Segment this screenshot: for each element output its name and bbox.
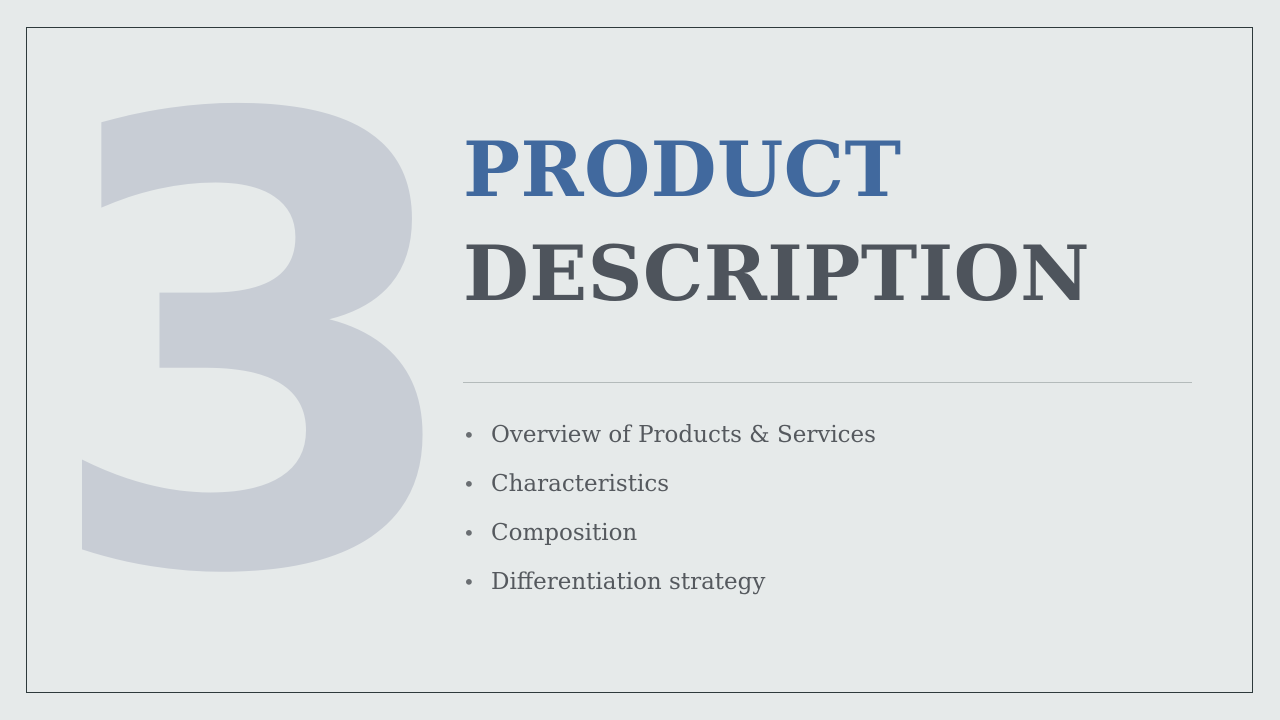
- list-item-label: Differentiation strategy: [491, 569, 1203, 595]
- list-item: • Characteristics: [463, 471, 1203, 520]
- list-item: • Overview of Products & Services: [463, 422, 1203, 471]
- section-number-watermark: 3: [70, 40, 430, 660]
- bullet-dot-icon: •: [463, 474, 491, 494]
- list-item-label: Overview of Products & Services: [491, 422, 1203, 448]
- list-item: • Differentiation strategy: [463, 569, 1203, 618]
- list-item-label: Characteristics: [491, 471, 1203, 497]
- list-item-label: Composition: [491, 520, 1203, 546]
- page-title-secondary: DESCRIPTION: [463, 222, 1203, 326]
- slide-content-column: PRODUCT DESCRIPTION • Overview of Produc…: [463, 118, 1203, 618]
- bullet-dot-icon: •: [463, 572, 491, 592]
- title-divider: [463, 382, 1192, 383]
- agenda-bullet-list: • Overview of Products & Services • Char…: [463, 422, 1203, 618]
- list-item: • Composition: [463, 520, 1203, 569]
- bullet-dot-icon: •: [463, 523, 491, 543]
- bullet-dot-icon: •: [463, 425, 491, 445]
- slide: 3 PRODUCT DESCRIPTION • Overview of Prod…: [0, 0, 1280, 720]
- page-title-primary: PRODUCT: [463, 118, 1203, 222]
